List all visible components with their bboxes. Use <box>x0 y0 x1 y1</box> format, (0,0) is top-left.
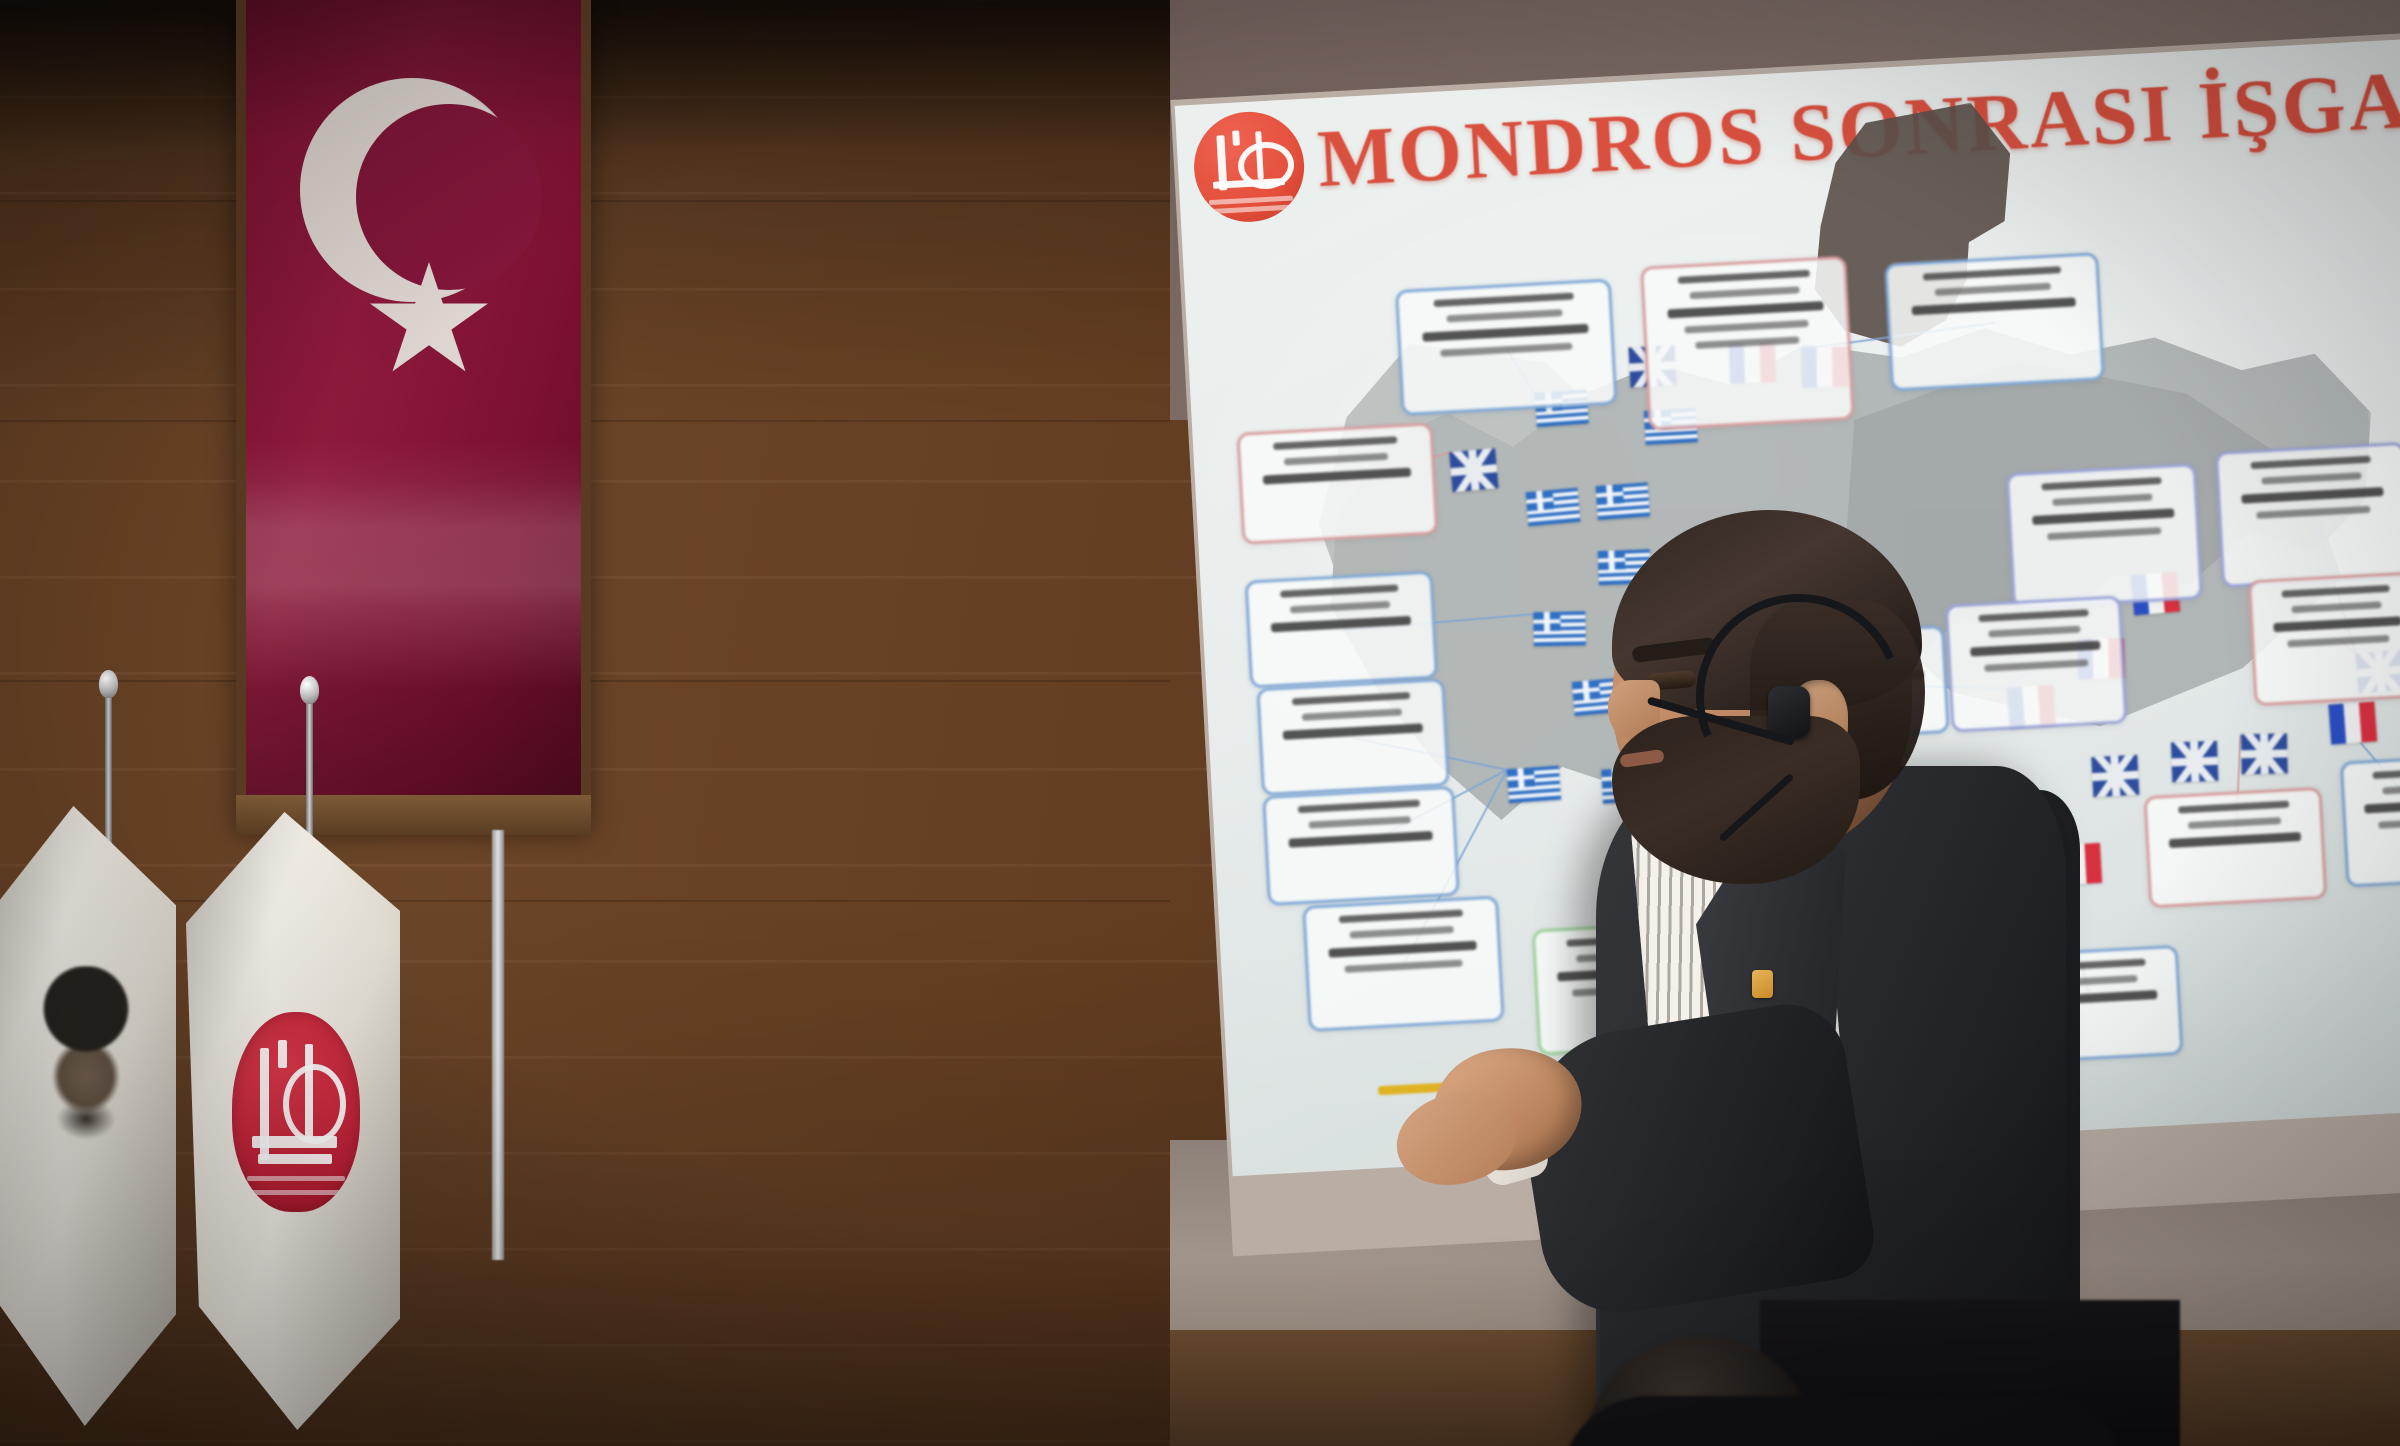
callout-text-line <box>1309 816 1411 828</box>
callout-text-line <box>1339 909 1464 923</box>
map-callout-c16 <box>2340 753 2400 888</box>
callout-text-line <box>1290 601 1389 613</box>
callout-text-line <box>2251 456 2371 469</box>
callout-text-line <box>1684 320 1809 334</box>
headset-earpiece <box>1768 686 1810 738</box>
callout-text-line <box>1345 960 1463 973</box>
map-flag-pin-greek <box>1596 482 1650 520</box>
callout-text-line <box>1292 692 1411 705</box>
callout-text-line <box>2287 635 2389 648</box>
callout-text-line <box>1282 723 1423 740</box>
map-callout-c6 <box>1256 678 1450 796</box>
callout-text-line <box>1696 336 1799 349</box>
callout-text-line <box>1935 283 2051 296</box>
callout-text-line <box>2241 487 2384 504</box>
map-callout-c3 <box>1884 252 2105 391</box>
logo-caption-line1 <box>247 1176 344 1181</box>
arm-near <box>1510 996 1880 1324</box>
logo-base-bar <box>252 1136 336 1148</box>
map-callout-c4 <box>1236 422 1438 544</box>
callout-text-line <box>1263 468 1411 485</box>
map-callout-c12 <box>2215 442 2400 588</box>
callout-text-line <box>2041 477 2161 490</box>
callout-text-line <box>1329 941 1477 958</box>
map-callout-c5 <box>1244 571 1438 689</box>
map-callout-c8 <box>1302 895 1505 1031</box>
callout-text-line <box>1284 453 1388 466</box>
callout-text-line <box>2047 527 2161 540</box>
callout-text-line <box>2261 472 2362 484</box>
crescent-icon <box>300 78 524 302</box>
callout-text-line <box>1678 270 1810 284</box>
callout-text-line <box>1667 301 1824 318</box>
callout-text-line <box>1923 266 2061 280</box>
callout-text-line <box>2187 817 2280 829</box>
map-flag-pin-uk <box>2091 755 2139 797</box>
map-flag-pin-uk <box>2241 733 2288 774</box>
callout-text-line <box>1434 293 1573 308</box>
map-flag-pin-uk <box>2171 741 2218 783</box>
callout-text-line <box>1446 309 1563 322</box>
callout-text-line <box>1440 343 1572 357</box>
callout-text-line <box>2052 494 2153 506</box>
presentation-photo-scene: MONDROS SONRASI İŞGA <box>0 0 2400 1446</box>
callout-text-line <box>2178 801 2289 814</box>
map-callout-c14 <box>2248 571 2400 706</box>
callout-text-line <box>1298 800 1420 814</box>
map-flag-pin-french <box>2328 701 2377 744</box>
map-callout-c15 <box>2143 787 2327 908</box>
map-flag-pin-uk <box>1449 448 1498 492</box>
callout-text-line <box>1350 926 1454 939</box>
logo-ring-stem <box>305 1044 313 1140</box>
map-callout-c2 <box>1640 256 1855 431</box>
map-callout-c7 <box>1262 786 1460 906</box>
logo-stem-mid <box>1232 130 1241 146</box>
callout-text-line <box>2282 585 2390 598</box>
logo-ring <box>283 1064 346 1144</box>
callout-text-line <box>1912 297 2076 315</box>
map-flag-pin-greek <box>1526 488 1581 526</box>
callout-text-line <box>1280 584 1399 597</box>
callout-text-line <box>2373 766 2400 779</box>
callout-text-line <box>1689 286 1800 299</box>
lapel-pin <box>1752 970 1773 998</box>
flag-finial-left <box>99 670 118 698</box>
logo-stem-mid <box>278 1040 287 1068</box>
callout-text-line <box>2032 508 2175 525</box>
slide-municipality-logo <box>1191 109 1307 225</box>
logo-caption-line2 <box>1210 204 1294 214</box>
logo-caption-line1 <box>1209 195 1293 205</box>
mic-stand-pole <box>492 830 504 1260</box>
map-callout-c1 <box>1395 278 1617 415</box>
municipality-roundel <box>232 1012 360 1212</box>
callout-text-line <box>2291 601 2382 613</box>
wall-panel-seam <box>0 900 1170 902</box>
callout-text-line <box>1423 324 1589 342</box>
callout-text-line <box>2378 816 2400 828</box>
flag-finial-right <box>300 676 319 704</box>
ataturk-portrait <box>22 966 150 1144</box>
logo-base-bar2 <box>258 1154 332 1164</box>
callout-text-line <box>1302 708 1401 720</box>
callout-text-line <box>1288 831 1433 848</box>
callout-text-line <box>2382 783 2400 795</box>
callout-text-line <box>2273 616 2400 632</box>
callout-text-line <box>1273 436 1398 450</box>
audience-member-shoulders <box>1560 1396 2120 1446</box>
callout-text-line <box>2365 798 2400 814</box>
logo-caption-line2 <box>247 1190 344 1195</box>
callout-text-line <box>1270 616 1411 633</box>
callout-text-line <box>2257 506 2371 519</box>
callout-text-line <box>2169 832 2301 848</box>
